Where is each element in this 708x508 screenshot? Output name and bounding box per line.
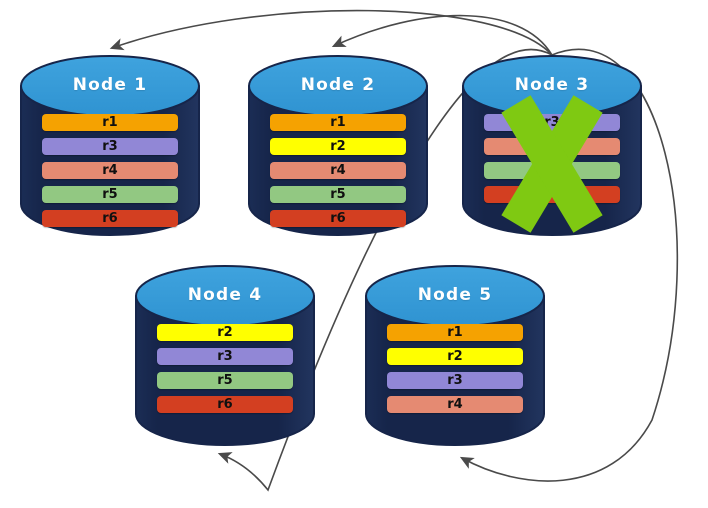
node-5-row-r2-label: r2 bbox=[447, 349, 462, 364]
node-4-row-r6[interactable]: r6 bbox=[157, 396, 293, 413]
node-1-row-r5[interactable]: r5 bbox=[42, 186, 178, 203]
node-5-row-r1-label: r1 bbox=[447, 325, 462, 340]
node-5-row-r2[interactable]: r2 bbox=[387, 348, 523, 365]
node-3-row-r5[interactable]: r5 bbox=[484, 162, 620, 179]
node-2-row-r4[interactable]: r4 bbox=[270, 162, 406, 179]
node-3-rows: r3r4r5r6 bbox=[462, 114, 642, 203]
node-3-row-r4-label: r4 bbox=[544, 139, 559, 154]
node-4-row-r2[interactable]: r2 bbox=[157, 324, 293, 341]
node-2-row-r4-label: r4 bbox=[330, 163, 345, 178]
node-4-row-r3-label: r3 bbox=[217, 349, 232, 364]
node-2-rows: r1r2r4r5r6 bbox=[248, 114, 428, 227]
node-4[interactable]: Node 4r2r3r5r6 bbox=[135, 265, 315, 445]
node-3[interactable]: Node 3r3r4r5r6 bbox=[462, 55, 642, 235]
diagram-canvas: Node 1r1r3r4r5r6Node 2r1r2r4r5r6Node 3r3… bbox=[0, 0, 708, 508]
node-1[interactable]: Node 1r1r3r4r5r6 bbox=[20, 55, 200, 235]
arrow-node3-to-node1 bbox=[112, 11, 552, 55]
node-4-row-r2-label: r2 bbox=[217, 325, 232, 340]
node-3-row-r6-label: r6 bbox=[544, 187, 559, 202]
node-2-row-r1[interactable]: r1 bbox=[270, 114, 406, 131]
node-3-row-r6[interactable]: r6 bbox=[484, 186, 620, 203]
node-4-top bbox=[136, 266, 314, 326]
node-5-top bbox=[366, 266, 544, 326]
node-2-row-r2[interactable]: r2 bbox=[270, 138, 406, 155]
node-2-row-r6[interactable]: r6 bbox=[270, 210, 406, 227]
node-2-row-r5[interactable]: r5 bbox=[270, 186, 406, 203]
node-2-row-r6-label: r6 bbox=[330, 211, 345, 226]
node-4-row-r5[interactable]: r5 bbox=[157, 372, 293, 389]
node-5[interactable]: Node 5r1r2r3r4 bbox=[365, 265, 545, 445]
node-5-row-r4-label: r4 bbox=[447, 397, 462, 412]
node-5-row-r4[interactable]: r4 bbox=[387, 396, 523, 413]
node-4-row-r5-label: r5 bbox=[217, 373, 232, 388]
node-1-row-r1[interactable]: r1 bbox=[42, 114, 178, 131]
node-4-row-r6-label: r6 bbox=[217, 397, 232, 412]
node-2-row-r5-label: r5 bbox=[330, 187, 345, 202]
node-1-row-r6[interactable]: r6 bbox=[42, 210, 178, 227]
node-1-row-r4-label: r4 bbox=[102, 163, 117, 178]
arrow-node3-to-node2 bbox=[334, 16, 552, 55]
node-1-rows: r1r3r4r5r6 bbox=[20, 114, 200, 227]
node-1-row-r3-label: r3 bbox=[102, 139, 117, 154]
node-3-row-r4[interactable]: r4 bbox=[484, 138, 620, 155]
node-3-top bbox=[463, 56, 641, 116]
node-5-row-r1[interactable]: r1 bbox=[387, 324, 523, 341]
node-1-row-r4[interactable]: r4 bbox=[42, 162, 178, 179]
node-2-row-r1-label: r1 bbox=[330, 115, 345, 130]
node-1-top bbox=[21, 56, 199, 116]
node-4-row-r3[interactable]: r3 bbox=[157, 348, 293, 365]
node-3-row-r5-label: r5 bbox=[544, 163, 559, 178]
node-2[interactable]: Node 2r1r2r4r5r6 bbox=[248, 55, 428, 235]
node-1-row-r1-label: r1 bbox=[102, 115, 117, 130]
node-2-row-r2-label: r2 bbox=[330, 139, 345, 154]
node-4-rows: r2r3r5r6 bbox=[135, 324, 315, 413]
node-5-row-r3-label: r3 bbox=[447, 373, 462, 388]
node-2-top bbox=[249, 56, 427, 116]
node-1-row-r3[interactable]: r3 bbox=[42, 138, 178, 155]
node-3-row-r3[interactable]: r3 bbox=[484, 114, 620, 131]
node-5-rows: r1r2r3r4 bbox=[365, 324, 545, 413]
node-5-row-r3[interactable]: r3 bbox=[387, 372, 523, 389]
node-1-row-r6-label: r6 bbox=[102, 211, 117, 226]
node-3-row-r3-label: r3 bbox=[544, 115, 559, 130]
node-1-row-r5-label: r5 bbox=[102, 187, 117, 202]
